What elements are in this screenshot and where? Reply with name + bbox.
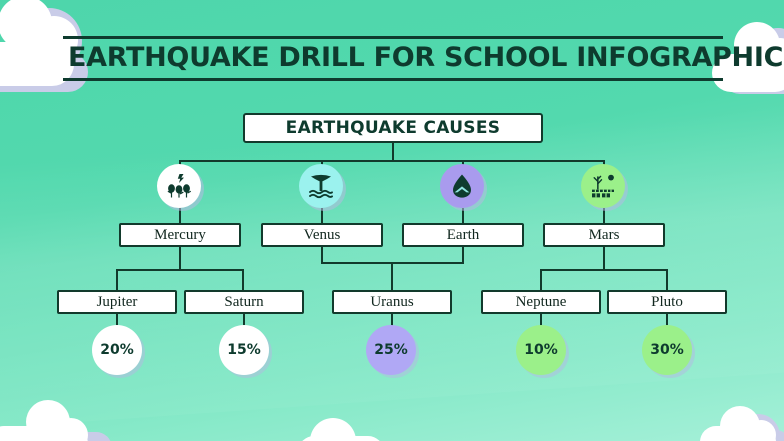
- percent-value-uranus: 25%: [374, 342, 408, 358]
- node-level2-1-label: Mercury: [154, 227, 206, 244]
- root-node-label: EARTHQUAKE CAUSES: [286, 118, 501, 138]
- connector-to-jupiter: [116, 269, 118, 291]
- percent-value-saturn: 15%: [227, 342, 261, 358]
- connector-mercury-down: [179, 247, 181, 270]
- icon-circle-4[interactable]: [581, 164, 625, 208]
- node-level2-1[interactable]: Mercury: [119, 223, 241, 247]
- node-level2-3[interactable]: Earth: [402, 223, 524, 247]
- node-level2-4[interactable]: Mars: [543, 223, 665, 247]
- node-level3-1[interactable]: Jupiter: [57, 290, 177, 314]
- percent-value-jupiter: 20%: [100, 342, 134, 358]
- cloud-bottom-center: [298, 418, 408, 441]
- root-node-earthquake-causes[interactable]: EARTHQUAKE CAUSES: [243, 113, 543, 143]
- cloud-bottom-right: [700, 404, 784, 441]
- percent-value-pluto: 30%: [650, 342, 684, 358]
- icon-circle-2[interactable]: [299, 164, 343, 208]
- icon-circle-1[interactable]: [157, 164, 201, 208]
- percent-circle-uranus[interactable]: 25%: [366, 325, 416, 375]
- page-title: EARTHQUAKE DRILL FOR SCHOOL INFOGRAPHICS: [63, 39, 723, 78]
- connector-icon-1-to-box: [179, 208, 181, 224]
- percent-value-neptune: 10%: [524, 342, 558, 358]
- connector-earth-down: [462, 247, 464, 263]
- connector-mars-down: [603, 247, 605, 270]
- geothermal-vents-icon: [166, 173, 192, 199]
- percent-circle-saturn[interactable]: 15%: [219, 325, 269, 375]
- node-level3-4[interactable]: Neptune: [481, 290, 601, 314]
- node-level3-2[interactable]: Saturn: [184, 290, 304, 314]
- percent-circle-jupiter[interactable]: 20%: [92, 325, 142, 375]
- node-level3-5[interactable]: Pluto: [607, 290, 727, 314]
- percent-circle-pluto[interactable]: 30%: [642, 325, 692, 375]
- node-level2-4-label: Mars: [589, 227, 620, 244]
- node-level3-2-label: Saturn: [224, 294, 263, 311]
- node-level3-3-label: Uranus: [370, 294, 413, 311]
- node-level2-2-label: Venus: [304, 227, 341, 244]
- connector-venus-down: [321, 247, 323, 263]
- node-level2-2[interactable]: Venus: [261, 223, 383, 247]
- water-fountain-icon: [308, 173, 334, 199]
- connector-mercury-bus: [116, 269, 244, 271]
- connector-root-down: [392, 143, 394, 161]
- node-level2-3-label: Earth: [447, 227, 479, 244]
- cracked-dry-earth-icon: [590, 173, 616, 199]
- connector-to-uranus: [391, 262, 393, 291]
- connector-to-saturn: [242, 269, 244, 291]
- connector-icon-4-to-box: [603, 208, 605, 224]
- volcano-mountain-icon: [449, 173, 475, 199]
- icon-circle-3[interactable]: [440, 164, 484, 208]
- node-level3-5-label: Pluto: [651, 294, 683, 311]
- node-level3-3[interactable]: Uranus: [332, 290, 452, 314]
- node-level3-4-label: Neptune: [516, 294, 567, 311]
- node-level3-1-label: Jupiter: [97, 294, 138, 311]
- connector-mars-bus: [540, 269, 668, 271]
- connector-icon-3-to-box: [462, 208, 464, 224]
- cloud-bottom-left: [2, 392, 142, 441]
- connector-icon-2-to-box: [321, 208, 323, 224]
- connector-to-pluto: [666, 269, 668, 291]
- connector-to-neptune: [540, 269, 542, 291]
- title-rule-bottom: [63, 78, 723, 81]
- page-title-block: EARTHQUAKE DRILL FOR SCHOOL INFOGRAPHICS: [63, 36, 723, 81]
- connector-level1-bus: [180, 160, 605, 162]
- percent-circle-neptune[interactable]: 10%: [516, 325, 566, 375]
- slide-canvas: EARTHQUAKE DRILL FOR SCHOOL INFOGRAPHICS…: [0, 0, 784, 441]
